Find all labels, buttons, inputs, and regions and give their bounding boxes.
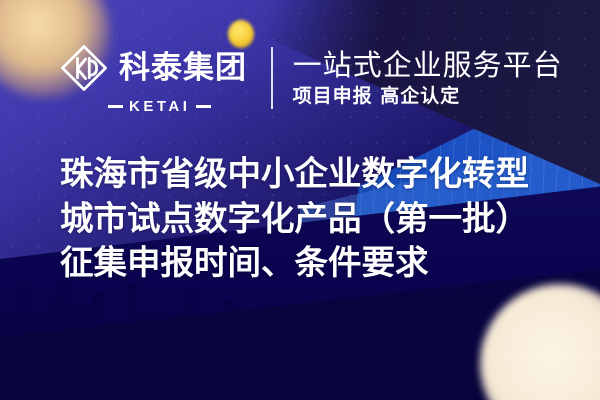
tagline-sub: 项目申报 高企认定 <box>293 86 563 107</box>
logo-company-name-cn: 科泰集团 <box>119 53 247 84</box>
header-divider <box>271 47 273 109</box>
logo-dash-left-icon <box>108 105 123 108</box>
promo-banner: 科泰集团 KETAI 一站式企业服务平台 项目申报 高企认定 珠海市省级中小企业… <box>0 0 600 400</box>
tagline-main: 一站式企业服务平台 <box>293 49 563 81</box>
banner-header: 科泰集团 KETAI 一站式企业服务平台 项目申报 高企认定 <box>58 42 563 114</box>
logo-dash-right-icon <box>196 105 211 108</box>
page-title: 珠海市省级中小企业数字化转型城市试点数字化产品（第一批）征集申报时间、条件要求 <box>60 152 560 286</box>
ketai-diamond-monogram-icon <box>58 42 110 94</box>
logo-primary-row: 科泰集团 <box>58 42 247 94</box>
logo-company-name-en: KETAI <box>129 99 190 114</box>
tagline-block: 一站式企业服务平台 项目申报 高企认定 <box>293 49 563 107</box>
logo-company-name-en-row: KETAI <box>108 99 211 114</box>
ketai-logo[interactable]: 科泰集团 KETAI <box>58 42 247 114</box>
